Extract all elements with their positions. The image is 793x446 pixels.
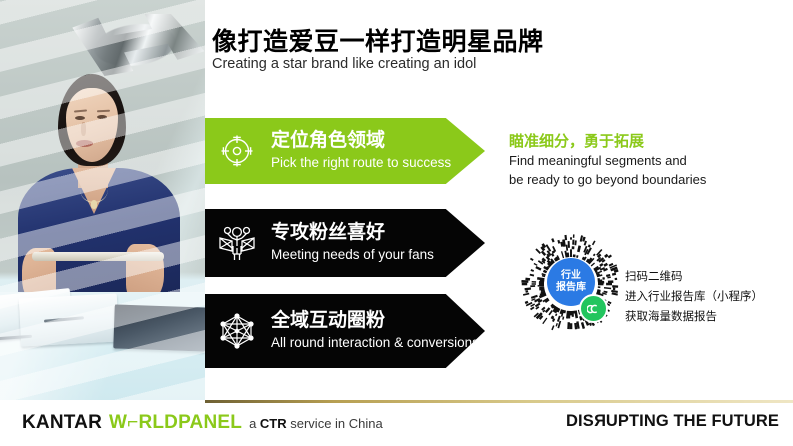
slogan-part-2: UPTING THE FUTURE	[606, 412, 779, 430]
qr-center-line-1: 行业	[561, 270, 581, 283]
qr-instruction-line-3: 获取海量数据报告	[625, 308, 763, 328]
tagline-prefix: a	[249, 416, 260, 431]
figure-lips	[76, 140, 93, 147]
figure-pendant	[91, 200, 97, 209]
network-mesh-icon	[205, 312, 269, 350]
page-title-en: Creating a star brand like creating an i…	[212, 56, 476, 72]
tagline-suffix: service in China	[287, 416, 383, 431]
qr-instructions: 扫码二维码 进入行业报告库（小程序） 获取海量数据报告	[625, 268, 763, 327]
brand-kantar: KANTAR	[22, 412, 102, 434]
figure-eye-right	[97, 115, 107, 119]
brochure-stack-3	[113, 304, 205, 351]
side-note-body: Find meaningful segments and be ready to…	[509, 152, 706, 190]
banner-3-title-cn: 全域互动圈粉	[271, 310, 479, 332]
cheering-fans-icon	[205, 224, 269, 262]
footer-brand: KANTAR W⌐RLDPANEL a CTR service in China	[22, 412, 383, 434]
banner-arrow-3[interactable]: 全域互动圈粉 All round interaction & conversio…	[205, 294, 485, 368]
banner-3-title-en: All round interaction & conversions	[271, 335, 479, 352]
qr-instruction-line-1: 扫码二维码	[625, 268, 763, 288]
banner-arrow-1[interactable]: 定位角色领域 Pick the right route to success	[205, 118, 485, 184]
wechat-miniprogram-icon	[579, 294, 608, 323]
target-crosshair-icon	[205, 133, 269, 169]
tagline-ctr: CTR	[260, 416, 287, 431]
figure-nose	[81, 122, 86, 136]
qr-center-line-2: 报告库	[556, 282, 586, 295]
slogan-reversed-r: R	[594, 412, 606, 431]
banner-3-text: 全域互动圈粉 All round interaction & conversio…	[269, 310, 479, 351]
banner-2-title-en: Meeting needs of your fans	[271, 247, 434, 264]
footer-slogan: DISRUPTING THE FUTURE	[566, 412, 779, 431]
qr-code[interactable]: 行业 报告库	[519, 232, 623, 336]
banner-1-text: 定位角色领域 Pick the right route to success	[269, 130, 451, 171]
brand-tagline: a CTR service in China	[249, 416, 383, 431]
banner-2-text: 专攻粉丝喜好 Meeting needs of your fans	[269, 222, 434, 263]
side-note-line-2: be ready to go beyond boundaries	[509, 171, 706, 190]
page-title-cn: 像打造爱豆一样打造明星品牌	[212, 22, 544, 58]
banner-1-title-cn: 定位角色领域	[271, 130, 451, 152]
side-note-line-1: Find meaningful segments and	[509, 152, 706, 171]
qr-instruction-line-2: 进入行业报告库（小程序）	[625, 288, 763, 308]
banner-1-title-en: Pick the right route to success	[271, 155, 451, 172]
slide-canvas: 像打造爱豆一样打造明星品牌 Creating a star brand like…	[0, 0, 793, 446]
hero-photo	[0, 0, 205, 400]
slogan-part-1: DIS	[566, 412, 594, 430]
banner-2-title-cn: 专攻粉丝喜好	[271, 222, 434, 244]
banner-arrow-2[interactable]: 专攻粉丝喜好 Meeting needs of your fans	[205, 209, 485, 277]
footer-divider	[205, 400, 793, 403]
figure-eye-left	[75, 116, 85, 120]
side-note-title-cn: 瞄准细分，勇于拓展	[509, 130, 644, 151]
figure-belt	[32, 252, 164, 261]
brand-worldpanel: W⌐RLDPANEL	[109, 412, 242, 434]
figure-necklace	[80, 176, 108, 203]
